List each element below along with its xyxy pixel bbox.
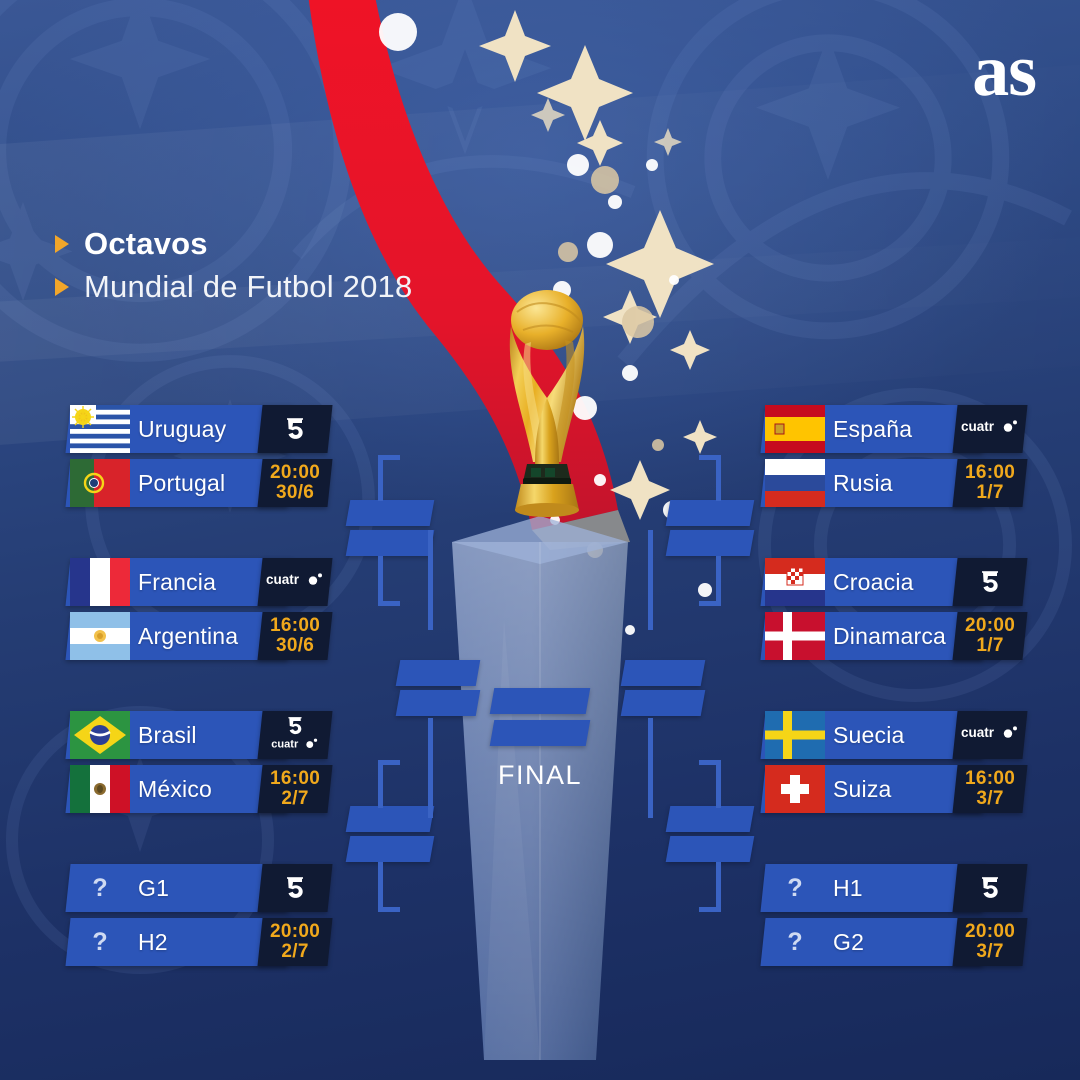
kickoff-time: 16:0030/6 [270, 616, 320, 656]
flag-suiza-icon [765, 765, 825, 813]
final-slot-b [490, 720, 591, 746]
question-mark-icon: ? [70, 864, 130, 912]
team-name: Portugal [138, 459, 225, 507]
cuatro-logo-icon: cuatr [961, 725, 1019, 745]
world-cup-trophy-icon [487, 282, 607, 527]
flag-uruguay-icon [70, 405, 130, 453]
bracket-tick [699, 907, 721, 912]
match-brasil-mexico[interactable]: Brasil cuatr México16:002/7 [68, 711, 330, 819]
telecinco-logo-icon [285, 876, 305, 900]
kickoff-badge: 16:003/7 [952, 765, 1027, 813]
channel-badge [952, 558, 1027, 606]
question-mark-icon: ? [765, 918, 825, 966]
flag-brasil-icon [70, 711, 130, 759]
bracket-tick [716, 862, 721, 912]
qf-slot-left-2b [346, 836, 435, 862]
question-mark-icon: ? [765, 864, 825, 912]
bracket-tick [716, 556, 721, 606]
team-name: España [833, 405, 912, 453]
sf-slot-right-b [621, 690, 706, 716]
team-name: Brasil [138, 711, 197, 759]
channel-badge: cuatr [952, 711, 1027, 759]
triangle-right-icon [55, 235, 69, 253]
emblem-watermark-pattern [0, 0, 400, 410]
kickoff-time: 20:002/7 [270, 922, 320, 962]
match-team-row[interactable]: ?G1 [68, 864, 330, 912]
team-name: Uruguay [138, 405, 226, 453]
bracket-tick [378, 862, 383, 912]
channel-badge: cuatr [952, 405, 1027, 453]
svg-text:cuatr: cuatr [271, 738, 299, 749]
svg-text:cuatr: cuatr [961, 419, 995, 434]
flag-espana-icon [765, 405, 825, 453]
qf-slot-right-1a [666, 500, 755, 526]
bracket-tick [648, 530, 653, 630]
title-row-subtitle: Mundial de Futbol 2018 [55, 269, 412, 305]
match-team-row[interactable]: Croacia [763, 558, 1025, 606]
qf-slot-left-2a [346, 806, 435, 832]
page-title-block: Octavos Mundial de Futbol 2018 [55, 226, 412, 312]
kickoff-badge: 16:0030/6 [257, 612, 332, 660]
match-team-row[interactable]: Argentina16:0030/6 [68, 612, 330, 660]
team-name: Croacia [833, 558, 914, 606]
title-row-octavos: Octavos [55, 226, 412, 262]
cuatro-logo-icon: cuatr [271, 737, 319, 753]
team-name: Suecia [833, 711, 905, 759]
bracket-tick [699, 601, 721, 606]
bracket-tick [699, 455, 721, 460]
match-team-row[interactable]: Portugal20:0030/6 [68, 459, 330, 507]
channel-badge [257, 405, 332, 453]
telecinco-logo-icon [287, 716, 303, 736]
team-name: H1 [833, 864, 863, 912]
kickoff-badge: 16:002/7 [257, 765, 332, 813]
match-team-row[interactable]: España cuatr [763, 405, 1025, 453]
question-mark-icon: ? [70, 918, 130, 966]
match-team-row[interactable]: Uruguay [68, 405, 330, 453]
match-team-row[interactable]: Rusia16:001/7 [763, 459, 1025, 507]
page-subtitle: Mundial de Futbol 2018 [84, 269, 412, 305]
team-name: Rusia [833, 459, 893, 507]
match-team-row[interactable]: Dinamarca20:001/7 [763, 612, 1025, 660]
flag-dinamarca-icon [765, 612, 825, 660]
flag-francia-icon [70, 558, 130, 606]
channel-badge: cuatr [257, 711, 332, 759]
bracket-tick [716, 455, 721, 501]
telecinco-logo-icon [285, 417, 305, 441]
match-team-row[interactable]: ?H1 [763, 864, 1025, 912]
match-espana-rusia[interactable]: España cuatr Rusia16:001/7 [763, 405, 1025, 513]
kickoff-time: 16:003/7 [965, 769, 1015, 809]
bracket-tick [378, 601, 400, 606]
match-team-row[interactable]: Francia cuatr [68, 558, 330, 606]
svg-text:cuatr: cuatr [961, 725, 995, 740]
infographic-stage: as Octavos Mundial de Futbol 2018 [0, 0, 1080, 1080]
sf-slot-left-a [396, 660, 481, 686]
triangle-right-icon [55, 278, 69, 296]
flag-mexico-icon [70, 765, 130, 813]
kickoff-badge: 20:003/7 [952, 918, 1027, 966]
match-suecia-suiza[interactable]: Suecia cuatr Suiza16:003/7 [763, 711, 1025, 819]
kickoff-time: 20:001/7 [965, 616, 1015, 656]
final-slot-a [490, 688, 591, 714]
sparkle-decorations [300, 0, 780, 710]
match-francia-argentina[interactable]: Francia cuatr Argentina16:0030/6 [68, 558, 330, 666]
match-team-row[interactable]: Suiza16:003/7 [763, 765, 1025, 813]
bracket-tick [378, 455, 400, 460]
channel-badge [257, 864, 332, 912]
sf-slot-left-b [396, 690, 481, 716]
match-team-row[interactable]: México16:002/7 [68, 765, 330, 813]
kickoff-badge: 20:0030/6 [257, 459, 332, 507]
team-name: G2 [833, 918, 864, 966]
qf-slot-right-2b [666, 836, 755, 862]
match-h1-g2[interactable]: ?H1 ?G220:003/7 [763, 864, 1025, 972]
bracket-tick [378, 907, 400, 912]
channel-badge: cuatr [257, 558, 332, 606]
match-g1-h2[interactable]: ?G1 ?H220:002/7 [68, 864, 330, 972]
qf-slot-right-1b [666, 530, 755, 556]
flag-croacia-icon [765, 558, 825, 606]
emblem-watermark-pattern [700, 330, 1080, 760]
flag-portugal-icon [70, 459, 130, 507]
telecinco-logo-icon [980, 570, 1000, 594]
kickoff-time: 16:002/7 [270, 769, 320, 809]
match-team-row[interactable]: Brasil cuatr [68, 711, 330, 759]
match-team-row[interactable]: ?G220:003/7 [763, 918, 1025, 966]
team-name: Suiza [833, 765, 892, 813]
kickoff-time: 20:003/7 [965, 922, 1015, 962]
qf-slot-left-1b [346, 530, 435, 556]
qf-slot-left-1a [346, 500, 435, 526]
match-team-row[interactable]: Suecia cuatr [763, 711, 1025, 759]
emblem-watermark-pattern [0, 640, 340, 1040]
flag-suecia-icon [765, 711, 825, 759]
match-team-row[interactable]: ?H220:002/7 [68, 918, 330, 966]
flag-rusia-icon [765, 459, 825, 507]
sf-slot-right-a [621, 660, 706, 686]
team-name: Dinamarca [833, 612, 946, 660]
bracket-tick [378, 455, 383, 501]
kickoff-badge: 20:002/7 [257, 918, 332, 966]
channel-badge [952, 864, 1027, 912]
team-name: Francia [138, 558, 216, 606]
team-name: G1 [138, 864, 169, 912]
page-title: Octavos [84, 226, 208, 262]
kickoff-badge: 16:001/7 [952, 459, 1027, 507]
bracket-tick [428, 530, 433, 630]
kickoff-time: 16:001/7 [965, 463, 1015, 503]
kickoff-badge: 20:001/7 [952, 612, 1027, 660]
qf-slot-right-2a [666, 806, 755, 832]
team-name: H2 [138, 918, 168, 966]
match-croacia-dinamarca[interactable]: Croacia Dinamarca20:001/7 [763, 558, 1025, 666]
bracket-tick [378, 556, 383, 606]
kickoff-time: 20:0030/6 [270, 463, 320, 503]
cuatro-logo-icon: cuatr [266, 572, 324, 592]
team-name: México [138, 765, 212, 813]
as-logo[interactable]: as [972, 34, 1036, 108]
cuatro-logo-icon: cuatr [961, 419, 1019, 439]
flag-argentina-icon [70, 612, 130, 660]
team-name: Argentina [138, 612, 238, 660]
match-uruguay-portugal[interactable]: Uruguay Portugal20:0030/6 [68, 405, 330, 513]
svg-text:cuatr: cuatr [266, 572, 300, 587]
telecinco-logo-icon [980, 876, 1000, 900]
